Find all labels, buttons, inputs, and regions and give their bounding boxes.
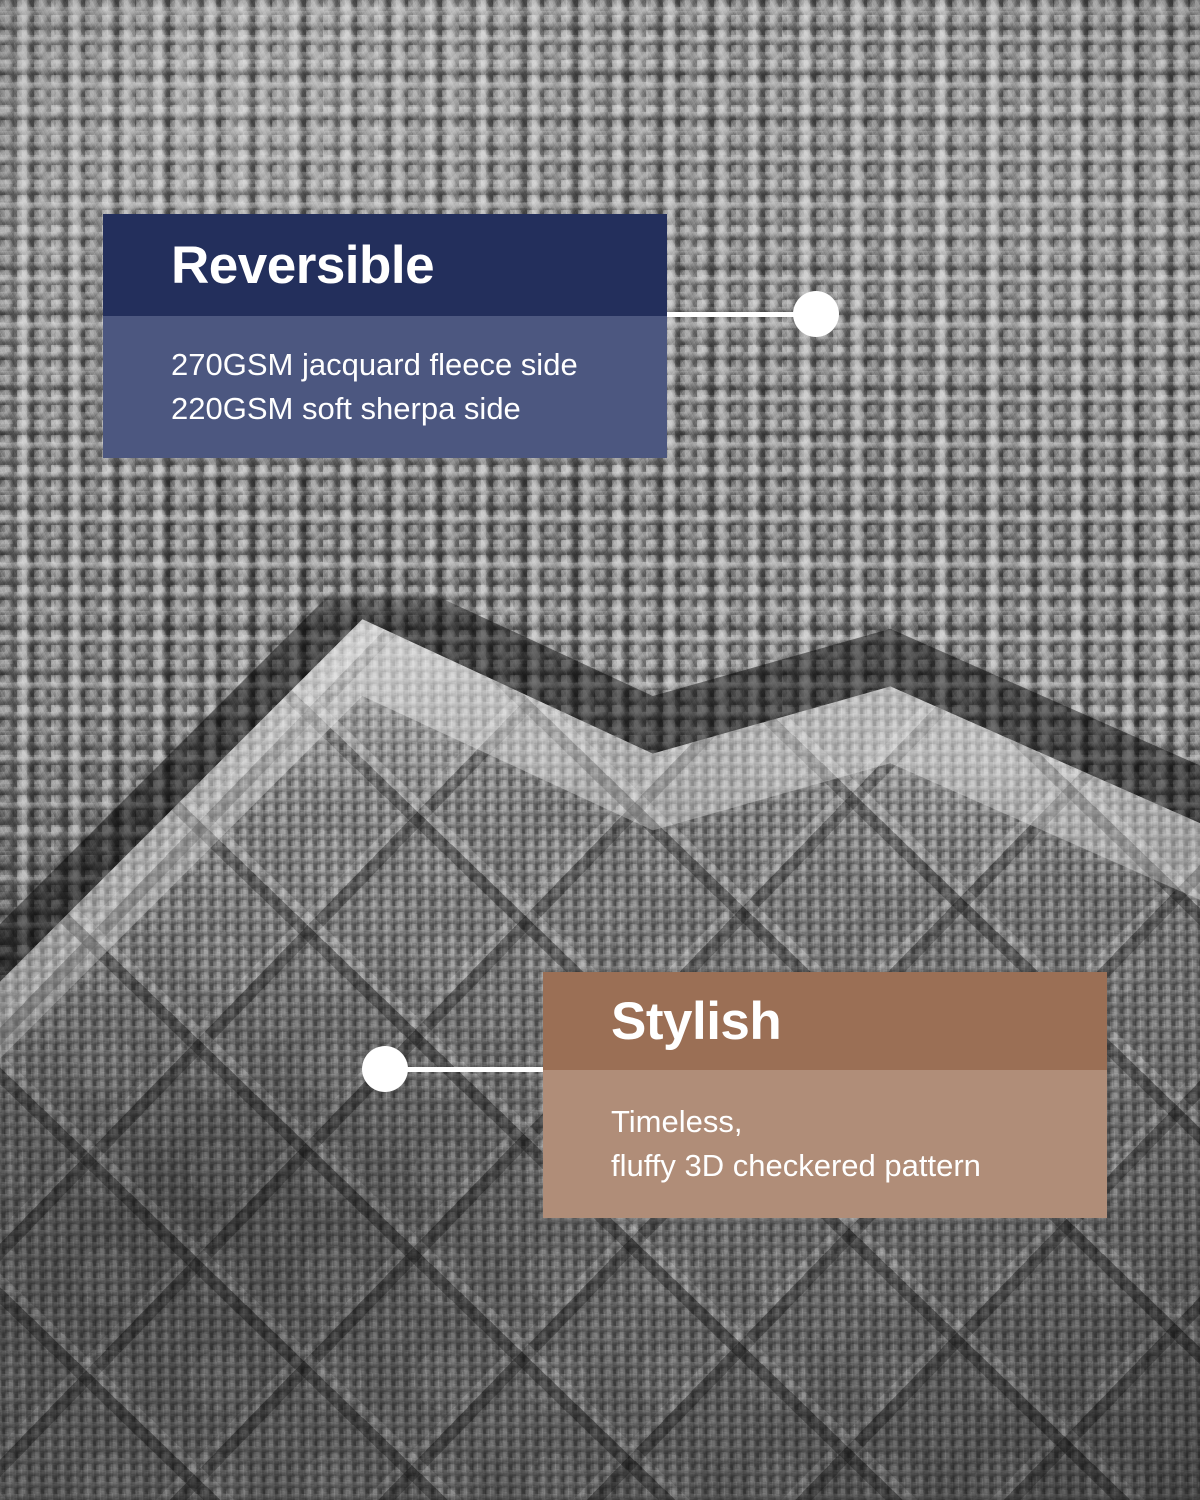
callout-reversible-title: Reversible	[103, 214, 667, 316]
leader-dot-reversible	[793, 291, 839, 337]
callout-stylish-line-1: Timeless,	[611, 1100, 1107, 1144]
leader-dot-stylish	[362, 1046, 408, 1092]
callout-stylish-body: Timeless, fluffy 3D checkered pattern	[543, 1070, 1107, 1218]
callout-reversible: Reversible 270GSM jacquard fleece side 2…	[103, 214, 667, 458]
leader-line-stylish	[385, 1067, 543, 1072]
callout-stylish-line-2: fluffy 3D checkered pattern	[611, 1144, 1107, 1188]
callout-reversible-line-1: 270GSM jacquard fleece side	[171, 343, 667, 387]
product-infographic: Reversible 270GSM jacquard fleece side 2…	[0, 0, 1200, 1500]
callout-stylish: Stylish Timeless, fluffy 3D checkered pa…	[543, 972, 1107, 1218]
callout-reversible-body: 270GSM jacquard fleece side 220GSM soft …	[103, 316, 667, 458]
callout-stylish-title: Stylish	[543, 972, 1107, 1070]
callout-reversible-line-2: 220GSM soft sherpa side	[171, 387, 667, 431]
